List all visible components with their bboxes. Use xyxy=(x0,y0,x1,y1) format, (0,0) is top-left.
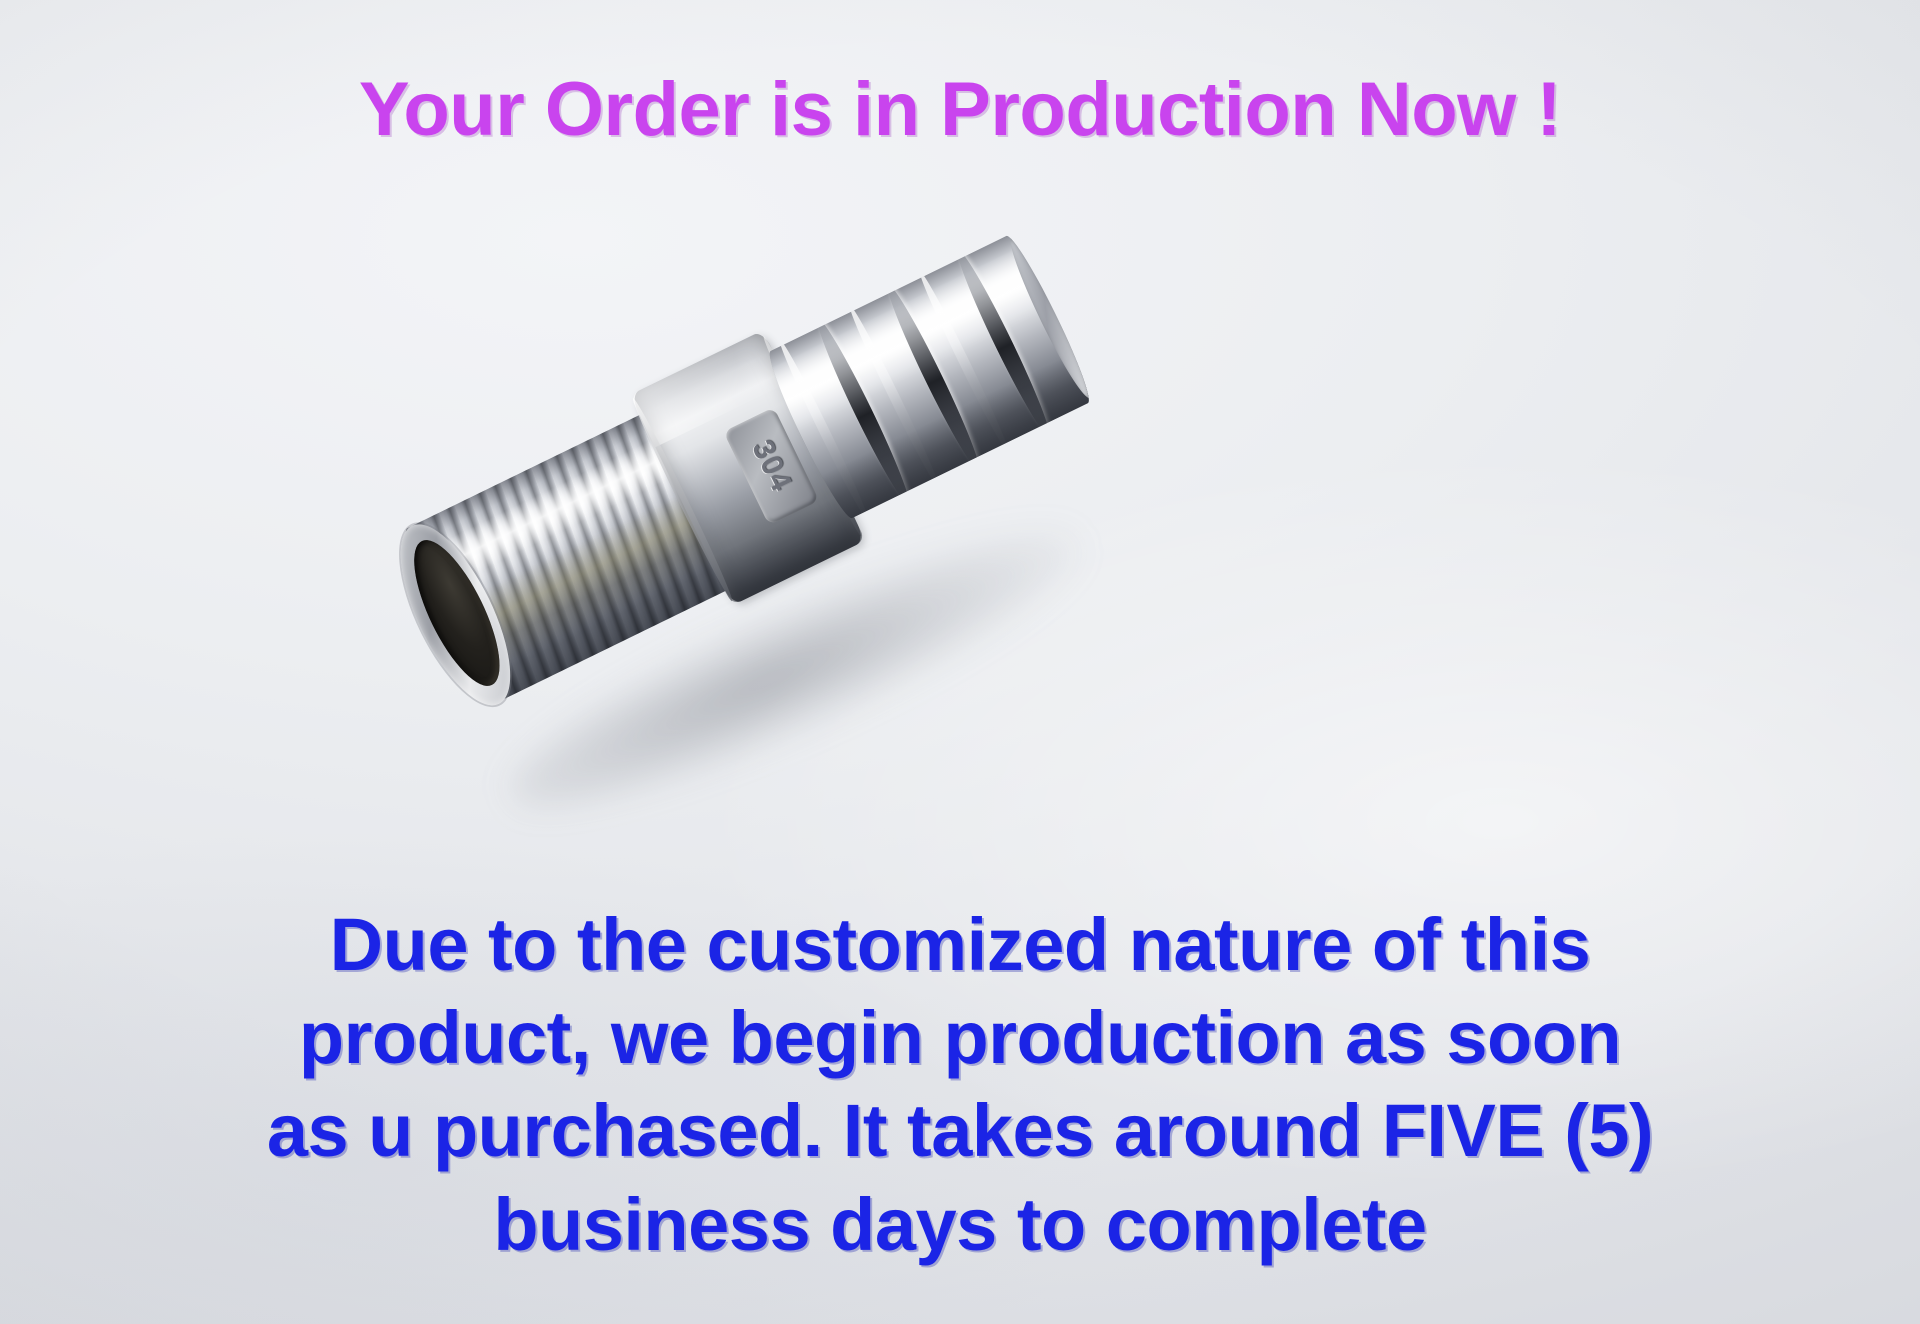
body-line-1: Due to the customized nature of this xyxy=(0,898,1920,991)
product-photo: 304 xyxy=(430,280,1170,750)
body-line-3: as u purchased. It takes around FIVE (5) xyxy=(0,1084,1920,1177)
material-grade-stamp: 304 xyxy=(744,435,798,498)
body-message: Due to the customized nature of this pro… xyxy=(0,898,1920,1271)
body-line-4: business days to complete xyxy=(0,1178,1920,1271)
body-line-2: product, we begin production as soon xyxy=(0,991,1920,1084)
poster-canvas: Your Order is in Production Now ! 304 xyxy=(0,0,1920,1324)
